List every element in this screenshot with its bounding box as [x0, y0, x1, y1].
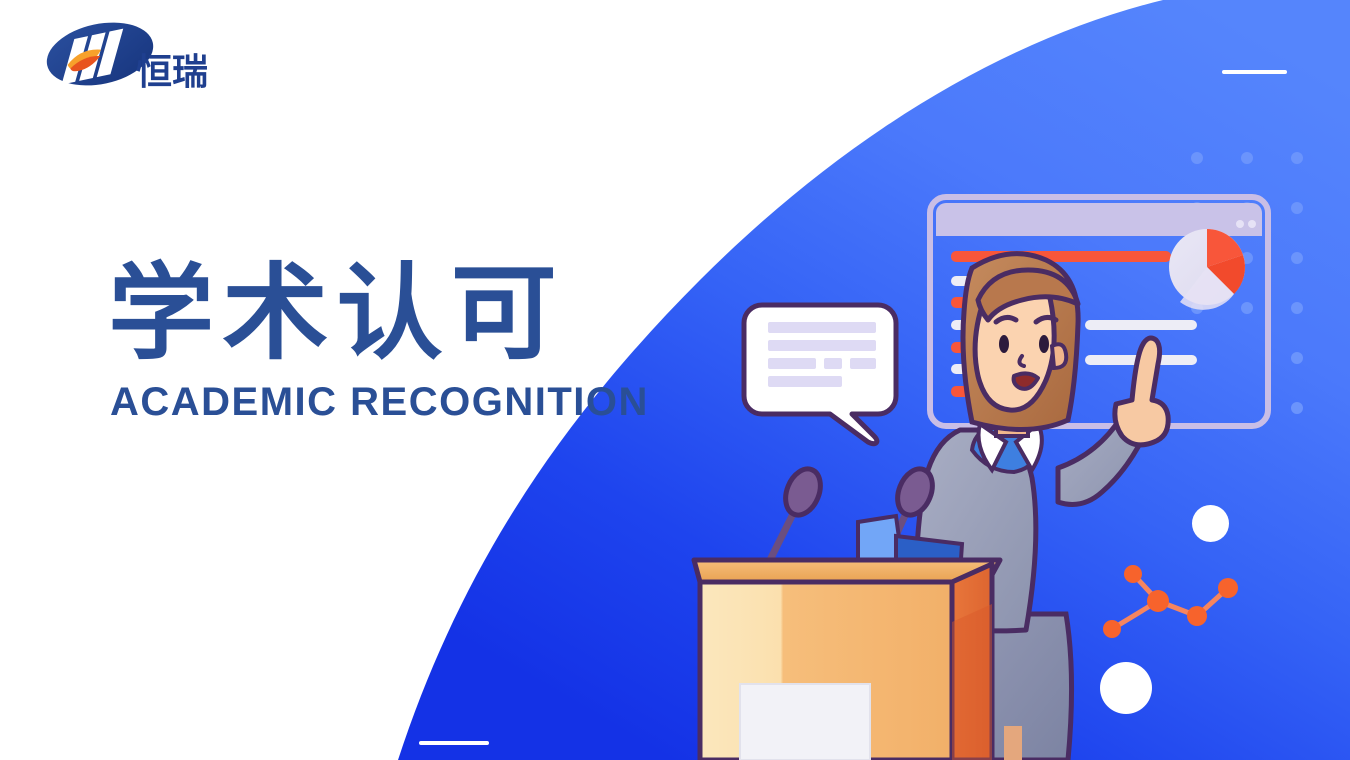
page-subtitle-en: ACADEMIC RECOGNITION [110, 380, 628, 425]
brand-logo[interactable]: 恒瑞 [44, 18, 224, 96]
network-nodes-decoration [1103, 565, 1238, 638]
white-circle-decoration-1 [1192, 505, 1229, 542]
slide-canvas: 恒瑞 学术认可 ACADEMIC RECOGNITION [0, 0, 1350, 760]
white-circle-decoration-2 [1100, 662, 1152, 714]
speech-bubble [744, 305, 896, 444]
dashboard-pie-chart [1169, 229, 1245, 310]
headline-block: 学术认可 ACADEMIC RECOGNITION [108, 262, 628, 425]
brand-name-cn: 恒瑞 [136, 52, 208, 93]
page-title-cn: 学术认可 [108, 262, 638, 366]
microphone-left [770, 464, 827, 560]
